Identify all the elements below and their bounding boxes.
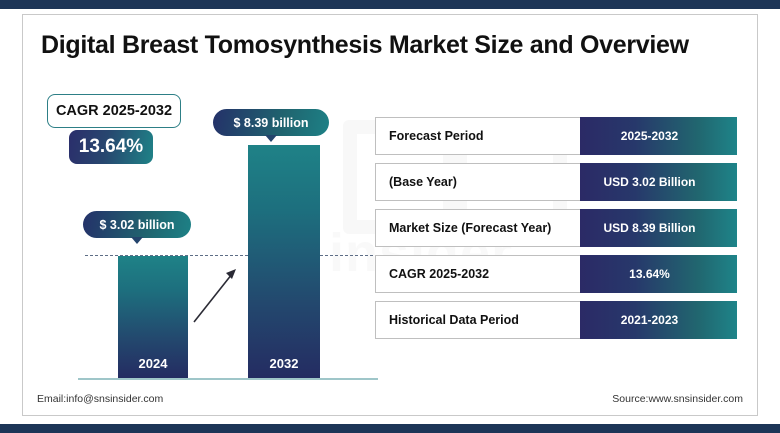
bar-category-label-2024: 2024 [118, 356, 188, 371]
infographic-poster: insider Digital Breast Tomosynthesis Mar… [0, 0, 780, 433]
table-value-cell: 13.64% [580, 255, 737, 293]
bar-value-pill-2032: $ 8.39 billion [213, 109, 329, 136]
bar-value-pill-2024: $ 3.02 billion [83, 211, 191, 238]
table-key-cell: (Base Year) [375, 163, 580, 201]
growth-arrow-icon [188, 260, 248, 330]
pill-pointer-2032 [265, 135, 277, 142]
table-key-label: Historical Data Period [389, 313, 519, 327]
table-value-label: 13.64% [629, 267, 670, 281]
bar-value-label-2024: $ 3.02 billion [99, 218, 174, 232]
table-value-label: 2025-2032 [621, 129, 678, 143]
page-title: Digital Breast Tomosynthesis Market Size… [41, 31, 689, 60]
table-row: Forecast Period 2025-2032 [375, 117, 737, 155]
cagr-value-label: 13.64% [79, 136, 143, 158]
table-row: CAGR 2025-2032 13.64% [375, 255, 737, 293]
table-row: Market Size (Forecast Year) USD 8.39 Bil… [375, 209, 737, 247]
table-value-cell: USD 3.02 Billion [580, 163, 737, 201]
chart-baseline-axis [78, 378, 378, 380]
table-row: (Base Year) USD 3.02 Billion [375, 163, 737, 201]
bar-2024: 2024 [118, 256, 188, 378]
market-summary-table: Forecast Period 2025-2032 (Base Year) US… [375, 117, 737, 347]
cagr-value-badge: 13.64% [69, 130, 153, 164]
top-accent-band [0, 0, 780, 9]
table-key-label: (Base Year) [389, 175, 457, 189]
table-key-cell: CAGR 2025-2032 [375, 255, 580, 293]
footer-email: Email:info@snsinsider.com [37, 393, 163, 405]
table-key-label: Forecast Period [389, 129, 483, 143]
table-value-cell: 2025-2032 [580, 117, 737, 155]
bar-value-label-2032: $ 8.39 billion [233, 116, 308, 130]
table-value-cell: 2021-2023 [580, 301, 737, 339]
cagr-period-label: CAGR 2025-2032 [56, 103, 172, 119]
table-value-label: USD 8.39 Billion [603, 221, 695, 235]
footer-source: Source:www.snsinsider.com [612, 393, 743, 405]
table-key-label: CAGR 2025-2032 [389, 267, 489, 281]
content-card: insider Digital Breast Tomosynthesis Mar… [22, 14, 758, 416]
table-value-label: USD 3.02 Billion [603, 175, 695, 189]
table-key-label: Market Size (Forecast Year) [389, 221, 551, 235]
table-value-label: 2021-2023 [621, 313, 678, 327]
table-key-cell: Forecast Period [375, 117, 580, 155]
table-key-cell: Historical Data Period [375, 301, 580, 339]
pill-pointer-2024 [131, 237, 143, 244]
cagr-period-box: CAGR 2025-2032 [47, 94, 181, 128]
bar-2032: 2032 [248, 145, 320, 378]
bottom-accent-band [0, 424, 780, 433]
table-value-cell: USD 8.39 Billion [580, 209, 737, 247]
table-row: Historical Data Period 2021-2023 [375, 301, 737, 339]
bar-category-label-2032: 2032 [248, 356, 320, 371]
table-key-cell: Market Size (Forecast Year) [375, 209, 580, 247]
